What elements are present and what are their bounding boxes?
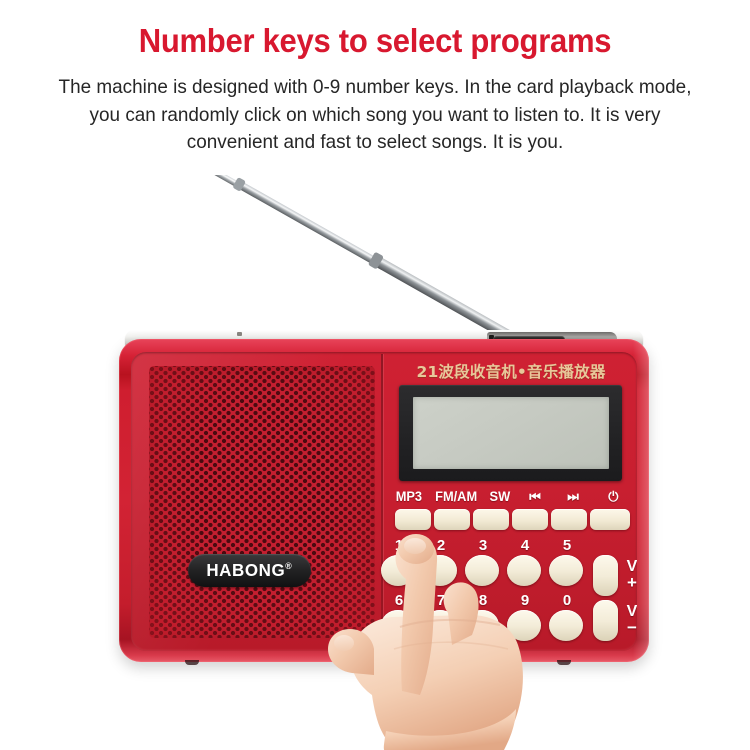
number-key-0[interactable] <box>549 610 583 641</box>
brand-label: HABONG <box>207 560 286 580</box>
key-label-6: 6 <box>390 592 408 609</box>
key-label-7: 7 <box>432 592 450 609</box>
volume-up-label: V + <box>623 559 637 591</box>
number-key-7[interactable] <box>423 610 457 641</box>
volume-up-sign: + <box>623 574 637 591</box>
description-paragraph: The machine is designed with 0-9 number … <box>49 57 701 157</box>
number-key-3[interactable] <box>465 555 499 586</box>
volume-down-button[interactable] <box>593 600 618 641</box>
volume-down-label: V − <box>623 604 637 636</box>
number-key-4[interactable] <box>507 555 541 586</box>
number-key-2[interactable] <box>423 555 457 586</box>
key-label-0: 0 <box>558 592 576 609</box>
key-label-8: 8 <box>474 592 492 609</box>
number-key-9[interactable] <box>507 610 541 641</box>
number-key-6[interactable] <box>381 610 415 641</box>
product-photo: HABONG® 21波段收音机•音乐播放器 MP3 FM/AM SW <box>0 175 750 750</box>
marketing-header: Number keys to select programs The machi… <box>0 0 750 175</box>
volume-up-button[interactable] <box>593 555 618 596</box>
bottom-foot-left <box>185 660 199 665</box>
key-label-2: 2 <box>432 537 450 554</box>
registered-mark: ® <box>285 561 292 571</box>
volume-down-sign: − <box>623 619 637 636</box>
radio-shell: HABONG® 21波段收音机•音乐播放器 MP3 FM/AM SW <box>119 339 649 662</box>
number-key-5[interactable] <box>549 555 583 586</box>
speaker-grille <box>149 366 375 638</box>
control-panel: 21波段收音机•音乐播放器 MP3 FM/AM SW ⏮ ⏭ ⏻ <box>383 352 637 651</box>
key-label-1: 1 <box>390 537 408 554</box>
key-label-4: 4 <box>516 537 534 554</box>
number-key-1[interactable] <box>381 555 415 586</box>
key-label-9: 9 <box>516 592 534 609</box>
radio-device: HABONG® 21波段收音机•音乐播放器 MP3 FM/AM SW <box>119 330 649 662</box>
brand-name: HABONG® <box>207 560 293 581</box>
brand-badge: HABONG® <box>188 554 311 587</box>
page-title: Number keys to select programs <box>23 0 728 57</box>
number-key-8[interactable] <box>465 610 499 641</box>
key-label-5: 5 <box>558 537 576 554</box>
front-face: HABONG® 21波段收音机•音乐播放器 MP3 FM/AM SW <box>131 352 637 651</box>
number-keypad: 1 2 3 4 5 6 7 8 <box>383 352 637 651</box>
bottom-foot-right <box>557 660 571 665</box>
key-label-3: 3 <box>474 537 492 554</box>
